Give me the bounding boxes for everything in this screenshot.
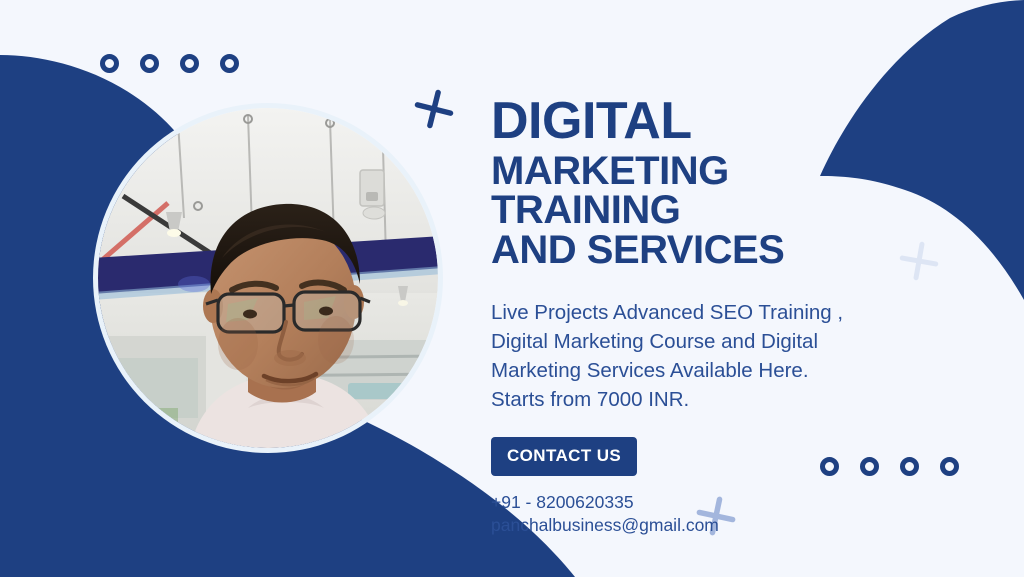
- cross-top-icon: [410, 85, 458, 133]
- headline-line-2: MARKETING TRAINING: [491, 152, 921, 230]
- headline-line-3: AND SERVICES: [491, 231, 921, 270]
- contact-email[interactable]: panchalbusiness@gmail.com: [491, 514, 921, 537]
- contact-details: +91 - 8200620335 panchalbusiness@gmail.c…: [491, 491, 921, 537]
- dot-ring-icon: [100, 54, 119, 73]
- description-text: Live Projects Advanced SEO Training , Di…: [491, 298, 921, 414]
- description-line-2: Digital Marketing Course and Digital: [491, 327, 921, 356]
- dot-ring-icon: [220, 54, 239, 73]
- contact-us-button[interactable]: CONTACT US: [491, 437, 637, 476]
- portrait-photo: [98, 108, 438, 448]
- description-line-4: Starts from 7000 INR.: [491, 385, 921, 414]
- page-title: DIGITAL MARKETING TRAINING AND SERVICES: [491, 96, 921, 271]
- contact-phone[interactable]: +91 - 8200620335: [491, 491, 921, 514]
- description-line-3: Marketing Services Available Here.: [491, 356, 921, 385]
- portrait-photo-image: [98, 108, 438, 448]
- dot-ring-icon: [140, 54, 159, 73]
- dot-ring-icon: [180, 54, 199, 73]
- headline-line-1: DIGITAL: [491, 96, 921, 147]
- banner-content: DIGITAL MARKETING TRAINING AND SERVICES …: [491, 96, 921, 537]
- promo-banner: DIGITAL MARKETING TRAINING AND SERVICES …: [0, 0, 1024, 577]
- dot-ring-icon: [940, 457, 959, 476]
- description-line-1: Live Projects Advanced SEO Training ,: [491, 298, 921, 327]
- dot-row-top-left: [100, 54, 239, 73]
